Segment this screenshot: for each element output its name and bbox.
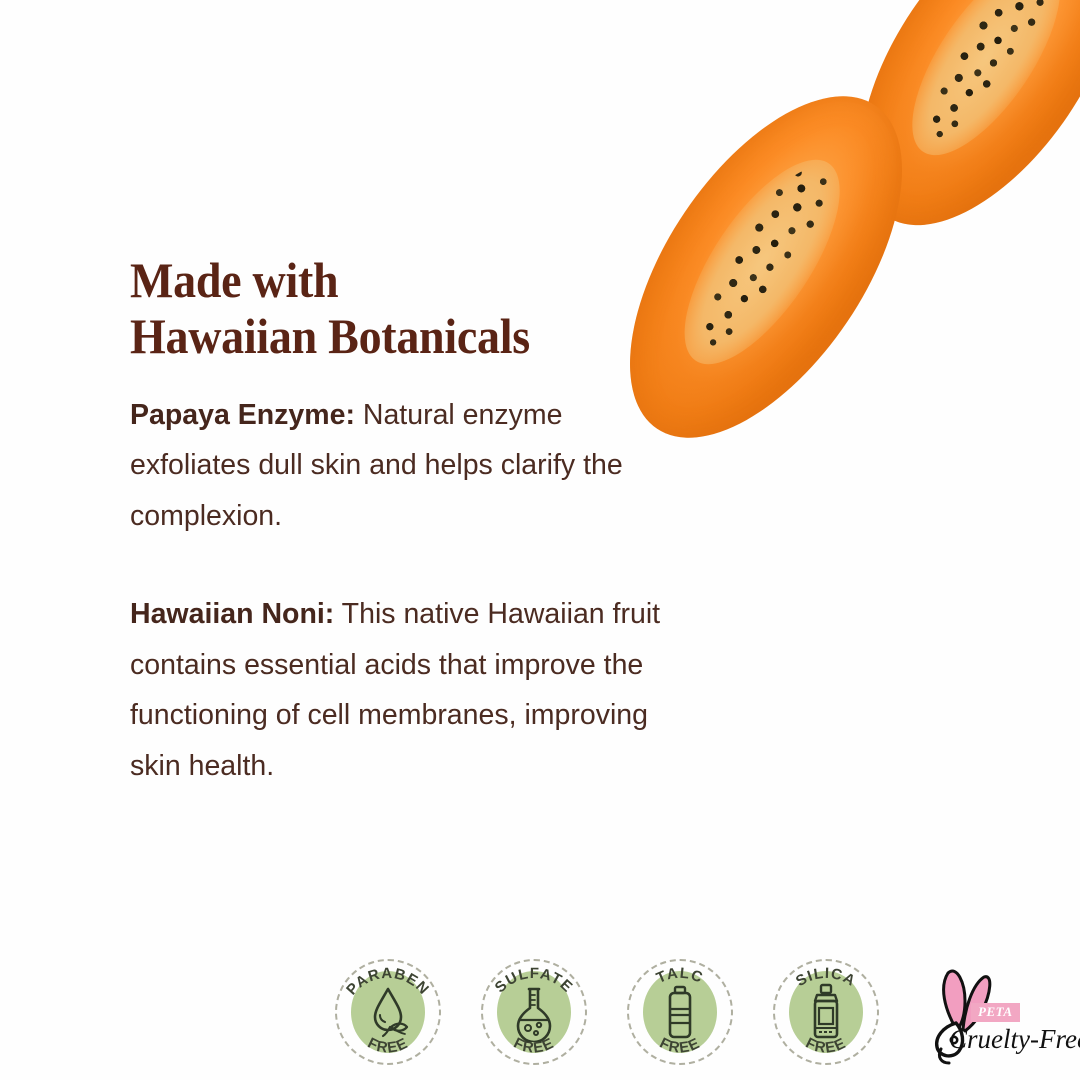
papaya-seeds bbox=[899, 0, 1074, 165]
ingredient-name-papaya: Papaya Enzyme: bbox=[130, 399, 355, 431]
papaya-seeds bbox=[670, 149, 855, 375]
droplet-leaf-icon bbox=[364, 982, 412, 1042]
ingredient-paragraph-noni: Hawaiian Noni: This native Hawaiian frui… bbox=[130, 589, 685, 791]
badge-talc-free: TALC FREE bbox=[617, 949, 743, 1075]
flask-icon bbox=[510, 982, 558, 1042]
product-ingredients-panel: Made with Hawaiian Botanicals Papaya Enz… bbox=[0, 0, 1080, 1080]
page-title: Made with Hawaiian Botanicals bbox=[130, 252, 645, 364]
badge-silica-free: SILICA FREE bbox=[763, 949, 889, 1075]
papaya-half-upper bbox=[809, 0, 1080, 269]
certification-badge-row: PARABEN FREE bbox=[325, 948, 1065, 1076]
ingredients-copy: Made with Hawaiian Botanicals Papaya Enz… bbox=[130, 252, 690, 791]
peta-cruelty-free-logo: PETA Cruelty-Free bbox=[915, 957, 1065, 1067]
ingredient-name-noni: Hawaiian Noni: bbox=[130, 598, 334, 630]
papaya-hero-image bbox=[660, 0, 1080, 500]
badge-sulfate-free: SULFATE FREE bbox=[471, 949, 597, 1075]
headline-line-1: Made with bbox=[130, 252, 338, 308]
bottle-icon bbox=[656, 982, 704, 1042]
headline-line-2: Hawaiian Botanicals bbox=[130, 308, 645, 364]
ingredient-paragraph-papaya: Papaya Enzyme: Natural enzyme exfoliates… bbox=[130, 390, 685, 541]
peta-tag: PETA bbox=[971, 1003, 1020, 1022]
papaya-flesh-rim bbox=[817, 0, 1080, 261]
badge-paraben-free: PARABEN FREE bbox=[325, 949, 451, 1075]
peta-cruelty-free-label: Cruelty-Free bbox=[949, 1024, 1080, 1055]
papaya-seed-cavity bbox=[885, 0, 1080, 177]
tube-icon bbox=[802, 982, 850, 1042]
